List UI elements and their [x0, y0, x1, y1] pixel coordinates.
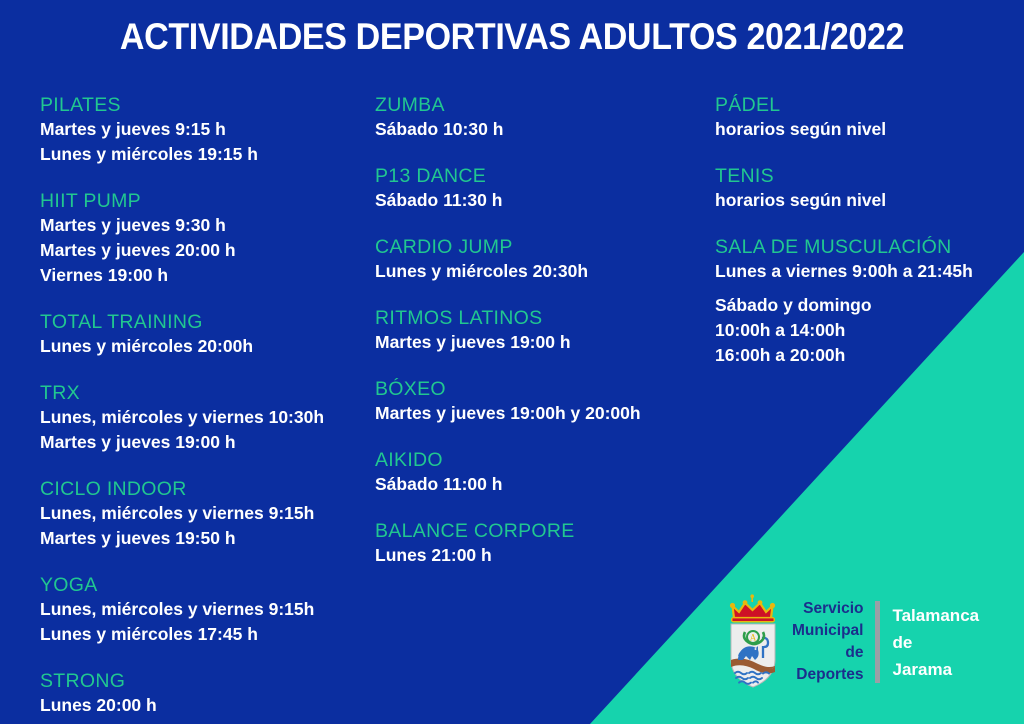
activity-name: ZUMBA	[375, 93, 705, 117]
activity-schedule-line: Lunes y miércoles 17:45 h	[40, 622, 370, 647]
activity-schedule-line: 16:00h a 20:00h	[715, 343, 1015, 368]
activity-schedule-line: 10:00h a 14:00h	[715, 318, 1015, 343]
activity-schedule-line: Lunes y miércoles 20:00h	[40, 334, 370, 359]
activity-schedule-line: Martes y jueves 9:30 h	[40, 213, 370, 238]
activity-name: RITMOS LATINOS	[375, 306, 705, 330]
service-name-line-4: Deportes	[792, 664, 863, 686]
town-name: Talamanca de Jarama	[892, 602, 979, 683]
town-name-line-3: Jarama	[892, 656, 979, 683]
activity-schedule-line: Martes y jueves 19:00h y 20:00h	[375, 401, 705, 426]
activity-entry: AIKIDOSábado 11:00 h	[375, 448, 705, 497]
activity-schedule-line: Lunes y miércoles 19:15 h	[40, 142, 370, 167]
activity-schedule-line: Lunes 20:00 h	[40, 693, 370, 718]
activity-name: BALANCE CORPORE	[375, 519, 705, 543]
activity-schedule-line: Viernes 19:00 h	[40, 263, 370, 288]
activity-schedule-line: Martes y jueves 19:50 h	[40, 526, 370, 551]
activity-schedule-line: Lunes 21:00 h	[375, 543, 705, 568]
activity-entry: BALANCE CORPORELunes 21:00 h	[375, 519, 705, 568]
activity-name: PILATES	[40, 93, 370, 117]
activity-schedule-line: Lunes, miércoles y viernes 9:15h	[40, 597, 370, 622]
activity-column-2: ZUMBASábado 10:30 hP13 DANCESábado 11:30…	[375, 93, 705, 568]
activity-schedule-line: horarios según nivel	[715, 188, 1015, 213]
activity-name: P13 DANCE	[375, 164, 705, 188]
activity-name: TENIS	[715, 164, 1015, 188]
activity-entry: ZUMBASábado 10:30 h	[375, 93, 705, 142]
town-name-line-2: de	[892, 629, 979, 656]
activity-entry: BÓXEOMartes y jueves 19:00h y 20:00h	[375, 377, 705, 426]
activity-entry: P13 DANCESábado 11:30 h	[375, 164, 705, 213]
activity-schedule-line: horarios según nivel	[715, 117, 1015, 142]
town-name-line-1: Talamanca	[892, 602, 979, 629]
activity-schedule-line: Martes y jueves 19:00 h	[40, 430, 370, 455]
svg-text:A: A	[750, 633, 757, 643]
service-name: Servicio Municipal de Deportes	[792, 598, 863, 686]
page-title: ACTIVIDADES DEPORTIVAS ADULTOS 2021/2022	[41, 16, 983, 58]
activity-column-1: PILATESMartes y jueves 9:15 hLunes y mié…	[40, 93, 370, 718]
activity-schedule-line: Sábado 11:30 h	[375, 188, 705, 213]
service-name-line-1: Servicio	[792, 598, 863, 620]
activity-entry: YOGALunes, miércoles y viernes 9:15hLune…	[40, 573, 370, 647]
activity-name: BÓXEO	[375, 377, 705, 401]
activity-schedule-line: Lunes a viernes 9:00h a 21:45h	[715, 259, 1015, 284]
logo-block: A Servicio Municipal de Deportes Talaman…	[722, 592, 1002, 692]
coat-of-arms-icon: A	[722, 594, 784, 690]
activity-entry: PILATESMartes y jueves 9:15 hLunes y mié…	[40, 93, 370, 167]
activity-schedule-line: Martes y jueves 19:00 h	[375, 330, 705, 355]
activity-entry: TRXLunes, miércoles y viernes 10:30hMart…	[40, 381, 370, 455]
service-name-line-2: Municipal	[792, 620, 863, 642]
activity-schedule-line: Sábado y domingo	[715, 293, 1015, 318]
activity-name: PÁDEL	[715, 93, 1015, 117]
activity-entry: SALA DE MUSCULACIÓNLunes a viernes 9:00h…	[715, 235, 1015, 368]
activity-schedule-line: Sábado 10:30 h	[375, 117, 705, 142]
activity-name: CICLO INDOOR	[40, 477, 370, 501]
activity-schedule-line: Lunes y miércoles 20:30h	[375, 259, 705, 284]
activity-name: TRX	[40, 381, 370, 405]
activity-entry: TOTAL TRAININGLunes y miércoles 20:00h	[40, 310, 370, 359]
activity-column-3: PÁDELhorarios según nivelTENIShorarios s…	[715, 93, 1015, 368]
activity-schedule-line: Martes y jueves 9:15 h	[40, 117, 370, 142]
activity-schedule-line: Lunes, miércoles y viernes 10:30h	[40, 405, 370, 430]
activity-name: CARDIO JUMP	[375, 235, 705, 259]
activity-name: STRONG	[40, 669, 370, 693]
activity-name: HIIT PUMP	[40, 189, 370, 213]
service-name-line-3: de	[792, 642, 863, 664]
activity-schedule-line: Martes y jueves 20:00 h	[40, 238, 370, 263]
activity-entry: CARDIO JUMPLunes y miércoles 20:30h	[375, 235, 705, 284]
activity-entry: TENIShorarios según nivel	[715, 164, 1015, 213]
logo-text-group: Servicio Municipal de Deportes Talamanca…	[792, 598, 979, 686]
activity-entry: STRONGLunes 20:00 h	[40, 669, 370, 718]
activity-name: SALA DE MUSCULACIÓN	[715, 235, 1015, 259]
activity-name: YOGA	[40, 573, 370, 597]
activity-entry: PÁDELhorarios según nivel	[715, 93, 1015, 142]
activity-name: AIKIDO	[375, 448, 705, 472]
activity-entry: HIIT PUMPMartes y jueves 9:30 hMartes y …	[40, 189, 370, 288]
activity-entry: CICLO INDOORLunes, miércoles y viernes 9…	[40, 477, 370, 551]
activity-name: TOTAL TRAINING	[40, 310, 370, 334]
activity-entry: RITMOS LATINOSMartes y jueves 19:00 h	[375, 306, 705, 355]
logo-divider	[875, 601, 880, 683]
activity-schedule-line: Lunes, miércoles y viernes 9:15h	[40, 501, 370, 526]
poster-canvas: ACTIVIDADES DEPORTIVAS ADULTOS 2021/2022…	[0, 0, 1024, 724]
activity-schedule-line: Sábado 11:00 h	[375, 472, 705, 497]
